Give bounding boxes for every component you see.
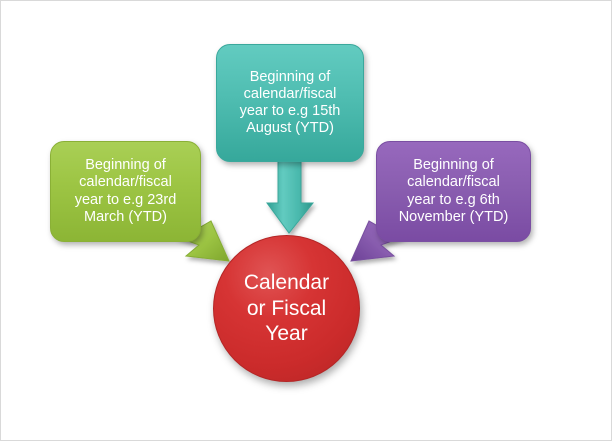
callout-box-green-label: Beginning of calendar/fiscal year to e.g… xyxy=(60,157,191,225)
arrow-teal-shape xyxy=(267,159,313,233)
callout-box-purple[interactable]: Beginning of calendar/fiscal year to e.g… xyxy=(376,141,531,242)
callout-box-teal[interactable]: Beginning of calendar/fiscal year to e.g… xyxy=(216,44,364,162)
callout-box-teal-label: Beginning of calendar/fiscal year to e.g… xyxy=(226,69,354,137)
center-circle[interactable]: Calendar or Fiscal Year xyxy=(213,235,360,382)
arrow-teal xyxy=(263,159,317,237)
center-circle-label: Calendar or Fiscal Year xyxy=(244,270,329,347)
diagram-canvas: Beginning of calendar/fiscal year to e.g… xyxy=(0,0,612,441)
callout-box-purple-label: Beginning of calendar/fiscal year to e.g… xyxy=(386,157,521,225)
callout-box-green[interactable]: Beginning of calendar/fiscal year to e.g… xyxy=(50,141,201,242)
